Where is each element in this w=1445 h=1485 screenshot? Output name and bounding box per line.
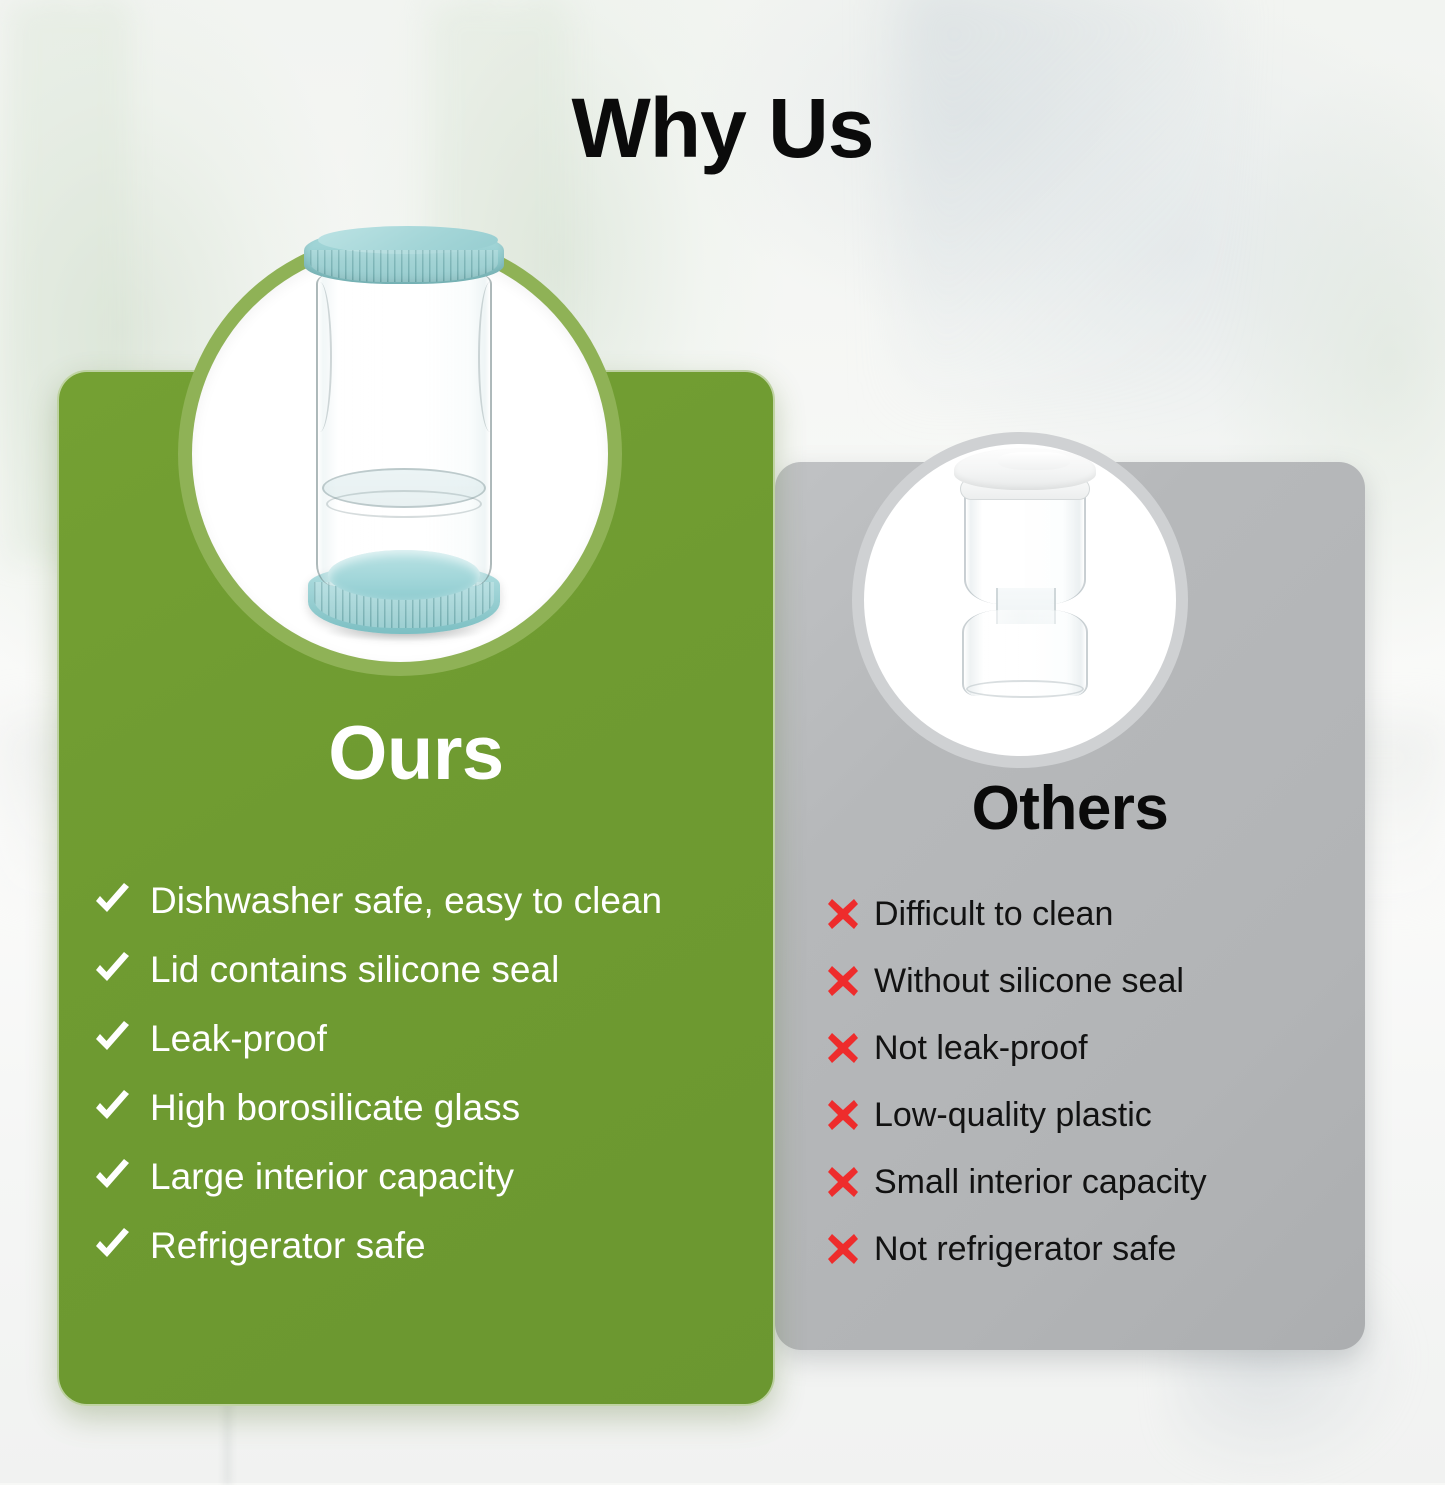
- cross-icon: [826, 897, 860, 931]
- others-heading: Others: [775, 778, 1365, 840]
- list-item-label: Leak-proof: [150, 1020, 327, 1057]
- cross-icon: [826, 1165, 860, 1199]
- check-icon: [92, 950, 132, 990]
- list-item: Difficult to clean: [826, 880, 1356, 947]
- check-icon: [92, 1226, 132, 1266]
- ours-product-image: [300, 228, 508, 634]
- background-window: [900, 0, 1230, 400]
- list-item-label: Low-quality plastic: [874, 1098, 1152, 1132]
- cross-icon: [826, 1232, 860, 1266]
- list-item-label: High borosilicate glass: [150, 1089, 520, 1126]
- others-product-lid-tab: [998, 452, 1070, 470]
- list-item-label: Large interior capacity: [150, 1158, 514, 1195]
- others-product-image: [944, 448, 1106, 700]
- list-item: Leak-proof: [92, 1004, 772, 1073]
- list-item: High borosilicate glass: [92, 1073, 772, 1142]
- list-item: Refrigerator safe: [92, 1211, 772, 1280]
- ours-feature-list: Dishwasher safe, easy to clean Lid conta…: [92, 866, 772, 1280]
- ours-product-inner-divider-rim: [326, 490, 482, 518]
- ours-product-waist-right: [478, 282, 498, 432]
- check-icon: [92, 1157, 132, 1197]
- list-item: Without silicone seal: [826, 947, 1356, 1014]
- cross-icon: [826, 1098, 860, 1132]
- list-item: Not leak-proof: [826, 1014, 1356, 1081]
- list-item-label: Lid contains silicone seal: [150, 951, 559, 988]
- check-icon: [92, 1088, 132, 1128]
- list-item-label: Small interior capacity: [874, 1165, 1207, 1199]
- list-item-label: Without silicone seal: [874, 964, 1184, 998]
- others-feature-list: Difficult to clean Without silicone seal…: [826, 880, 1356, 1282]
- list-item-label: Difficult to clean: [874, 897, 1113, 931]
- list-item: Small interior capacity: [826, 1148, 1356, 1215]
- background-cabinet-edge: [225, 1395, 230, 1485]
- ours-product-top-lid-cap: [318, 226, 498, 254]
- cross-icon: [826, 1031, 860, 1065]
- list-item: Low-quality plastic: [826, 1081, 1356, 1148]
- list-item-label: Dishwasher safe, easy to clean: [150, 882, 662, 919]
- list-item: Dishwasher safe, easy to clean: [92, 866, 772, 935]
- others-product-base-rim: [966, 680, 1084, 698]
- list-item: Lid contains silicone seal: [92, 935, 772, 1004]
- ours-product-top-lid: [304, 228, 504, 284]
- check-icon: [92, 881, 132, 921]
- list-item: Large interior capacity: [92, 1142, 772, 1211]
- page-title: Why Us: [0, 86, 1445, 170]
- list-item: Not refrigerator safe: [826, 1215, 1356, 1282]
- ours-heading: Ours: [57, 716, 775, 792]
- check-icon: [92, 1019, 132, 1059]
- ours-product-glass-body: [316, 274, 492, 586]
- cross-icon: [826, 964, 860, 998]
- ours-product-teal-base-insert: [328, 550, 480, 600]
- others-product-lid: [954, 448, 1096, 490]
- list-item-label: Refrigerator safe: [150, 1227, 426, 1264]
- list-item-label: Not leak-proof: [874, 1031, 1088, 1065]
- list-item-label: Not refrigerator safe: [874, 1232, 1176, 1266]
